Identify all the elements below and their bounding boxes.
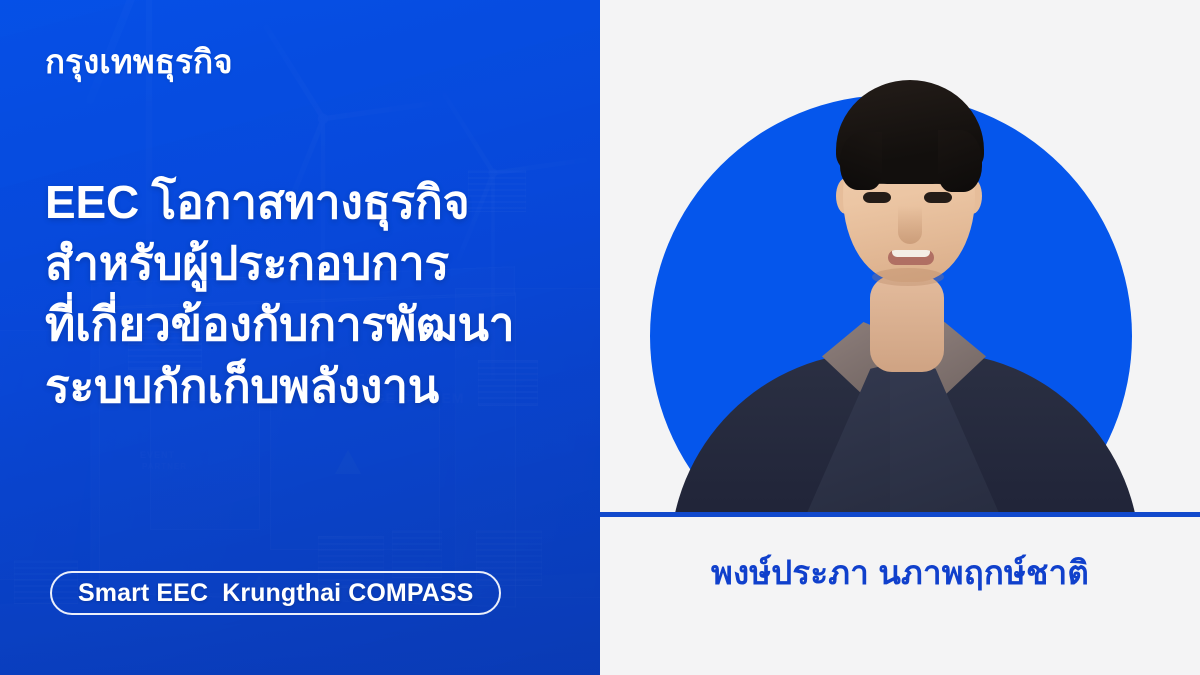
speaker-photo [600,0,1200,516]
eye-left [863,192,891,203]
brand-logo: กรุงเทพธุรกิจ [45,44,600,80]
series-badge[interactable]: Smart EEC Krungthai COMPASS [50,571,501,615]
hair [836,80,984,184]
nose [898,206,922,244]
mouth [888,250,934,265]
chin-shadow [872,268,944,286]
right-panel: พงษ์ประภา นภาพฤกษ์ชาติ [600,0,1200,675]
speaker-name: พงษ์ประภา นภาพฤกษ์ชาติ [600,546,1200,599]
neck [870,276,944,372]
avatar [600,0,1200,516]
left-panel: ENERGY STORAGE SYSTEM EVENT PARTNER กรุง… [0,0,600,675]
divider [600,512,1200,517]
eye-right [924,192,952,203]
banner-card: ENERGY STORAGE SYSTEM EVENT PARTNER กรุง… [0,0,1200,675]
